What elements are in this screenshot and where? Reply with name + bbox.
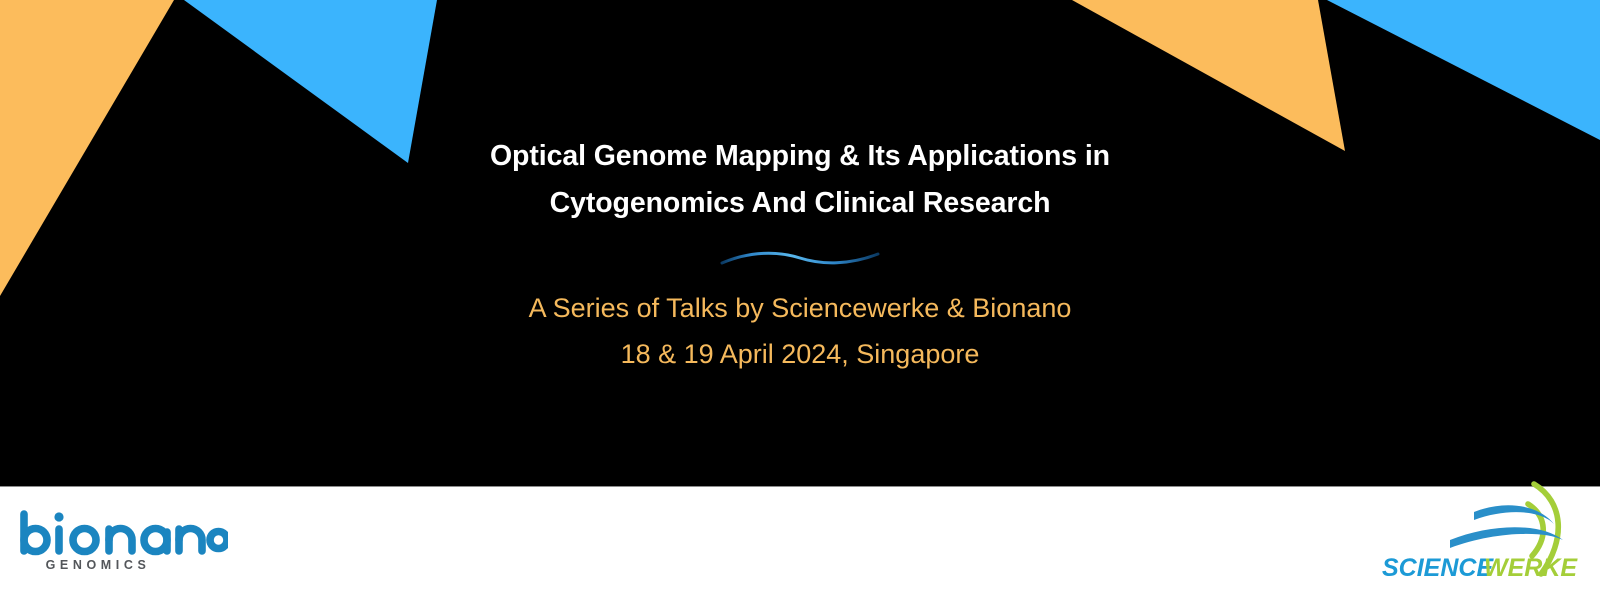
event-banner: Optical Genome Mapping & Its Application… [0,0,1600,592]
footer-logo-bar: GENOMICS SCIENCE WERKE [0,486,1600,592]
sciencewerke-logo-icon: SCIENCE WERKE [1378,478,1588,586]
page-title-line-2: Cytogenomics And Clinical Research [550,187,1051,219]
page-title: Optical Genome Mapping & Its Application… [490,133,1110,227]
bionano-tagline: GENOMICS [46,558,151,572]
bionano-i-dot [54,512,63,521]
hero-section: Optical Genome Mapping & Its Application… [0,0,1600,486]
divider [720,247,880,271]
page-title-line-1: Optical Genome Mapping & Its Application… [490,140,1110,172]
hero-content: Optical Genome Mapping & Its Application… [0,0,1600,486]
wave-divider-icon [720,247,880,271]
event-subtitle: A Series of Talks by Sciencewerke & Bion… [529,285,1072,377]
sciencewerke-swoosh-blue-lower [1450,527,1563,548]
bionano-genomics-logo[interactable]: GENOMICS [18,510,228,572]
sciencewerke-wordmark-science: SCIENCE [1382,554,1494,582]
sciencewerke-logo[interactable]: SCIENCE WERKE [1378,478,1588,586]
sciencewerke-wordmark-werke: WERKE [1484,554,1578,582]
event-subtitle-line-2: 18 & 19 April 2024, Singapore [529,331,1072,377]
event-subtitle-line-1: A Series of Talks by Sciencewerke & Bion… [529,285,1072,331]
bionano-genomics-logo-icon: GENOMICS [18,510,228,572]
